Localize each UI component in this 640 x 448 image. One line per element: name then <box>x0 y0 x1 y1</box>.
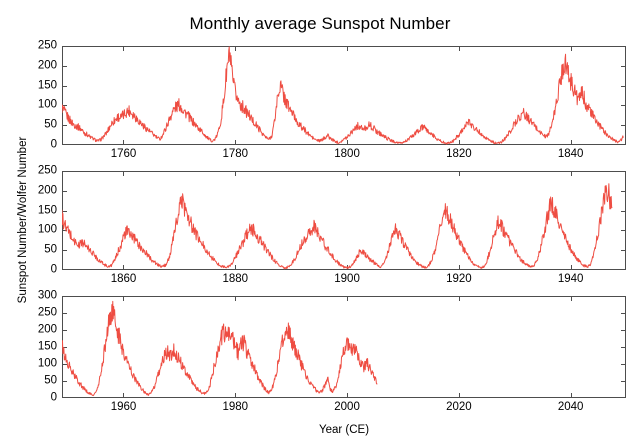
y-tick-label: 100 <box>17 100 57 112</box>
x-tick-label: 1960 <box>111 402 137 414</box>
x-tick-label: 2020 <box>446 402 472 414</box>
y-tick-label: 0 <box>17 264 57 276</box>
y-tick-label: 50 <box>17 119 57 131</box>
x-tick-label: 1760 <box>111 149 137 161</box>
y-tick-label: 0 <box>17 139 57 151</box>
y-tick-label: 150 <box>17 341 57 353</box>
y-tick-label: 150 <box>17 80 57 92</box>
y-tick-label: 300 <box>17 290 57 302</box>
x-tick-label: 1820 <box>446 149 472 161</box>
y-tick-label: 100 <box>17 225 57 237</box>
plot-panel-2: 18601880190019201940050100150200250 <box>62 171 626 270</box>
y-tick-label: 50 <box>17 375 57 387</box>
x-tick-label: 1900 <box>334 274 360 286</box>
plot-area-3 <box>62 296 626 398</box>
axis-frame <box>63 297 626 398</box>
plot-area-1 <box>62 46 626 145</box>
x-tick-label: 1880 <box>222 274 248 286</box>
x-tick-label: 1780 <box>222 149 248 161</box>
x-tick-label: 1840 <box>558 149 584 161</box>
sunspot-series-line <box>62 184 612 269</box>
y-tick-label: 250 <box>17 40 57 52</box>
y-tick-label: 100 <box>17 358 57 370</box>
x-tick-label: 1980 <box>222 402 248 414</box>
plot-panel-1: 17601780180018201840050100150200250 <box>62 46 626 145</box>
y-tick-label: 0 <box>17 392 57 404</box>
plot-area-2 <box>62 171 626 270</box>
x-tick-label: 1920 <box>446 274 472 286</box>
sunspot-chart-figure: Monthly average Sunspot Number Sunspot N… <box>0 0 640 448</box>
x-tick-label: 1800 <box>334 149 360 161</box>
y-tick-label: 150 <box>17 205 57 217</box>
sunspot-series-line <box>62 47 623 144</box>
y-tick-label: 250 <box>17 165 57 177</box>
y-tick-label: 50 <box>17 244 57 256</box>
y-tick-label: 200 <box>17 324 57 336</box>
x-tick-label: 2040 <box>558 402 584 414</box>
x-tick-label: 1860 <box>111 274 137 286</box>
x-axis-label: Year (CE) <box>62 424 626 436</box>
y-tick-label: 200 <box>17 185 57 197</box>
x-tick-label: 1940 <box>558 274 584 286</box>
y-tick-label: 200 <box>17 60 57 72</box>
chart-title: Monthly average Sunspot Number <box>0 14 640 34</box>
y-tick-label: 250 <box>17 307 57 319</box>
sunspot-series-line <box>62 301 377 395</box>
plot-panel-3: 19601980200020202040050100150200250300 <box>62 296 626 398</box>
y-axis-label: Sunspot Number/Wolfer Number <box>17 100 29 340</box>
x-tick-label: 2000 <box>334 402 360 414</box>
